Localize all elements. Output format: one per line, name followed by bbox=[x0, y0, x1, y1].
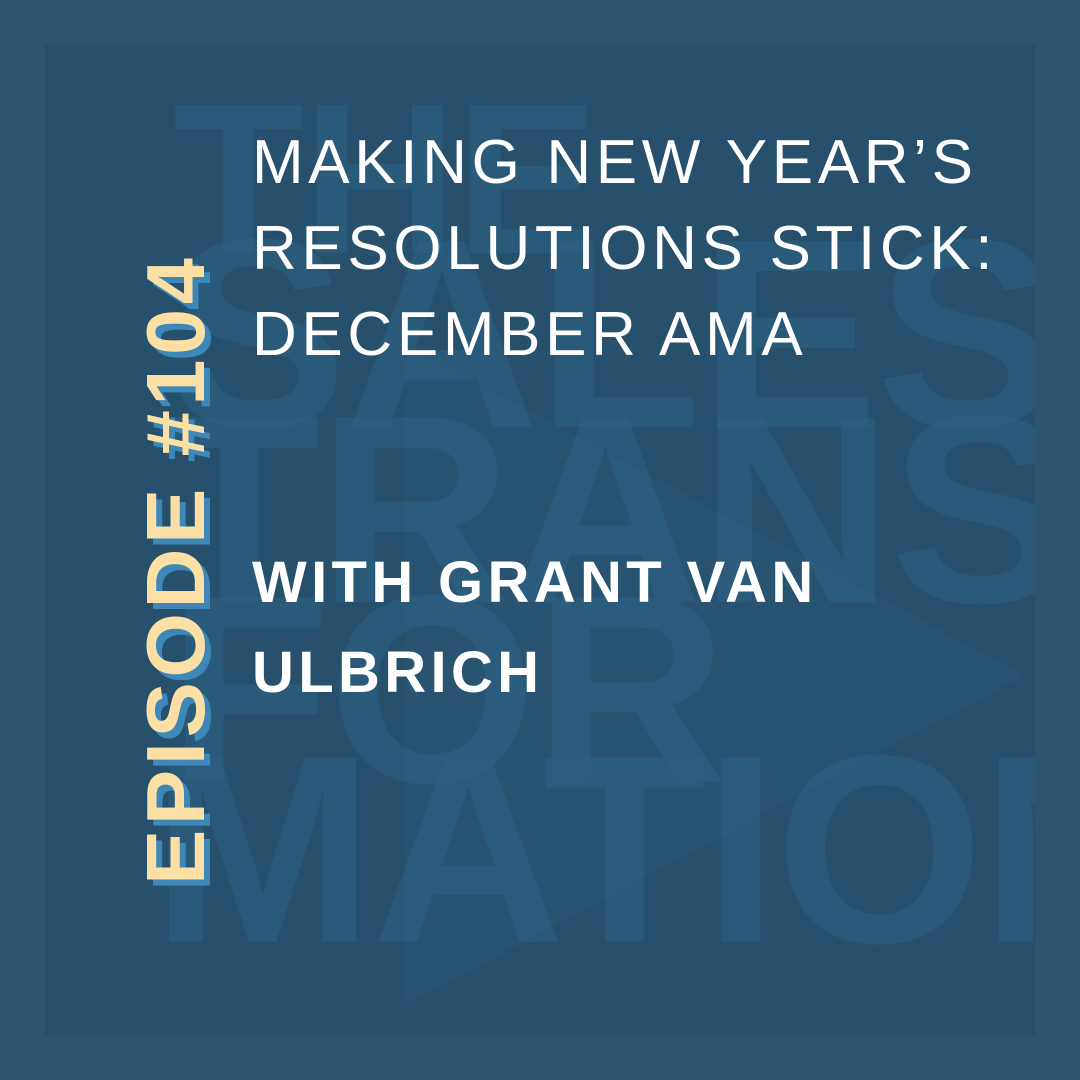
episode-title: MAKING NEW YEAR’S RESOLUTIONS STICK: DEC… bbox=[252, 120, 1042, 379]
guest-name: WITH GRANT VAN ULBRICH bbox=[252, 538, 952, 718]
watermark-word-mation: MATION bbox=[151, 745, 1035, 954]
podcast-episode-graphic: THE SALES TRANS FOR MATION PODCA EPISODE… bbox=[0, 0, 1080, 1080]
